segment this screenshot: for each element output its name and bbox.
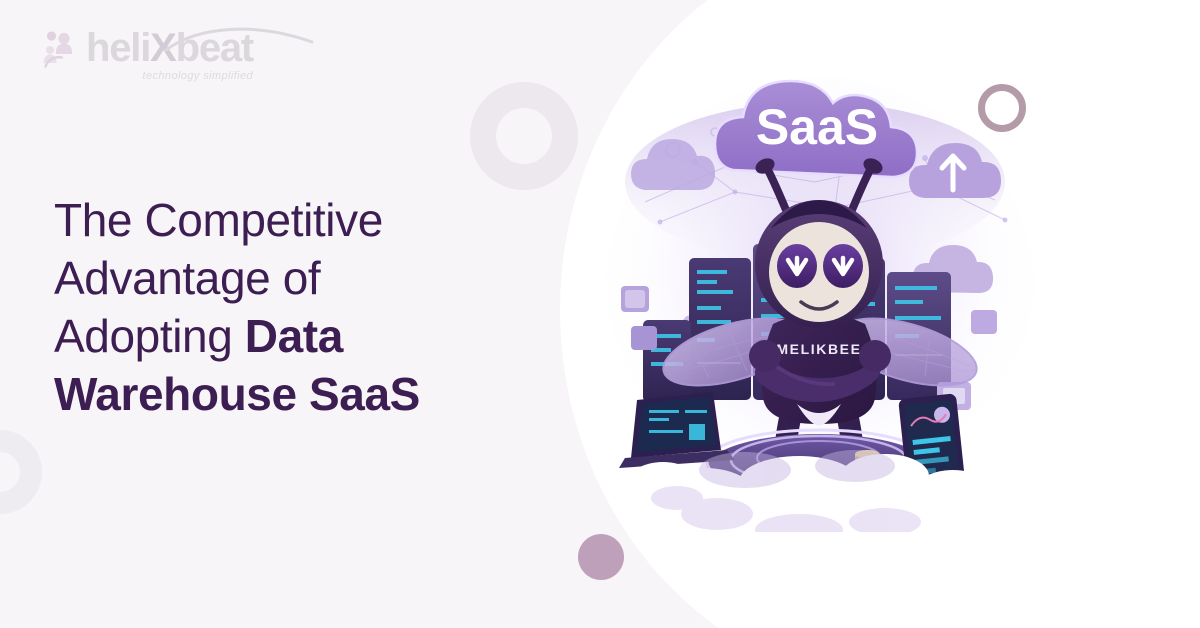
page-title: The Competitive Advantage of Adopting Da…	[54, 192, 524, 424]
brand-logo[interactable]: heliXbeat technology simplified	[42, 28, 253, 82]
plus-grid-pattern	[1126, 122, 1190, 240]
mascot-chest-label: MELIKBEE	[776, 341, 861, 357]
headline-line-2: Advantage of	[54, 252, 320, 304]
banner-canvas: heliXbeat technology simplified The Comp…	[0, 0, 1200, 628]
ring-decoration-left-edge	[0, 430, 42, 514]
brand-name-part1: heli	[86, 26, 150, 70]
hero-illustration: SaaS	[585, 62, 1055, 532]
helixbeat-people-icon	[42, 28, 78, 68]
headline-line-3-bold: Data	[245, 310, 343, 362]
saas-cloud-label: SaaS	[756, 99, 878, 155]
brand-tagline: technology simplified	[86, 70, 253, 82]
brand-name-accent: X	[150, 26, 175, 70]
headline-line-3-regular: Adopting	[54, 310, 245, 362]
headline-line-4-bold: Warehouse SaaS	[54, 368, 420, 420]
headline-line-1: The Competitive	[54, 194, 383, 246]
dot-decoration-mauve	[578, 534, 624, 580]
saas-cloud-bee-scene: SaaS	[585, 62, 1055, 532]
ring-decoration-light	[470, 82, 578, 190]
brand-name-part2: beat	[176, 26, 253, 70]
brand-wordmark: heliXbeat	[86, 28, 253, 68]
